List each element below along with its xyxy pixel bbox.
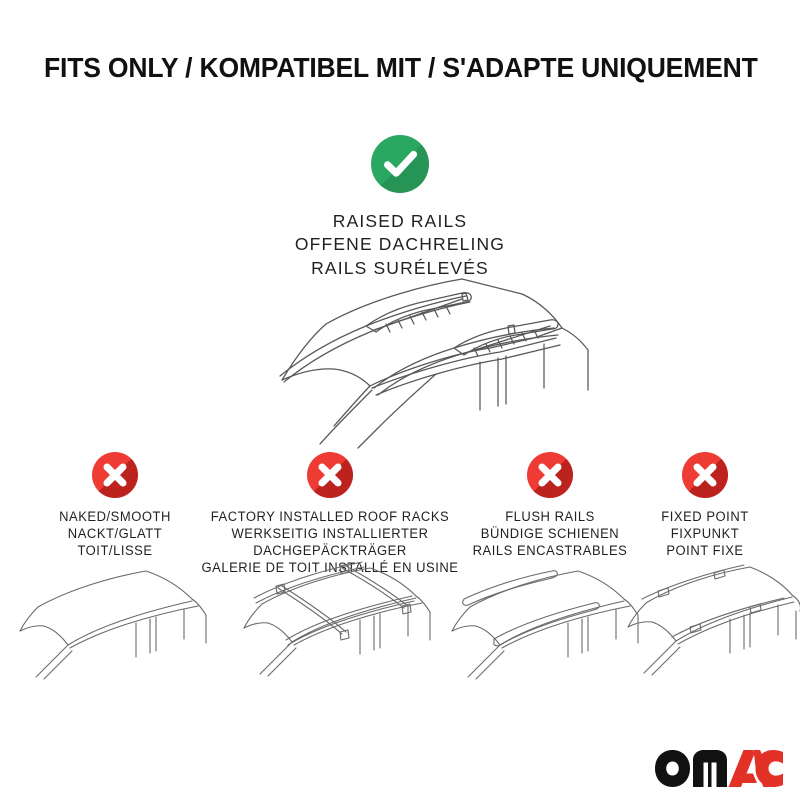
x-circle-icon [307,452,353,498]
check-circle-icon [371,135,429,193]
illustration-flush-rails [438,553,643,681]
illustration-fixed-points [618,553,800,681]
rejected-item-naked-smooth: NAKED/SMOOTH NACKT/GLATT TOIT/LISSE [25,452,205,559]
approved-label-de: OFFENE DACHRELING [0,233,800,256]
rejected-label-de: BÜNDIGE SCHIENEN [458,525,642,542]
rejected-labels: NAKED/SMOOTH NACKT/GLATT TOIT/LISSE [28,508,203,559]
rejected-label-de: NACKT/GLATT [28,525,203,542]
rejected-label-de: FIXPUNKT [627,525,782,542]
omac-logo [654,748,784,790]
rejected-item-flush-rails: FLUSH RAILS BÜNDIGE SCHIENEN RAILS ENCAS… [455,452,645,559]
rejected-labels: FIXED POINT FIXPUNKT POINT FIXE [627,508,782,559]
approved-label-en: RAISED RAILS [0,210,800,233]
rejected-label-de-1: WERKSEITIG INSTALLIERTER [199,525,461,542]
page-title: FITS ONLY / KOMPATIBEL MIT / S'ADAPTE UN… [44,52,748,84]
rejected-label-en: FACTORY INSTALLED ROOF RACKS [199,508,461,525]
x-circle-icon [92,452,138,498]
rejected-label-en: FLUSH RAILS [458,508,642,525]
rejected-item-fixed-point: FIXED POINT FIXPUNKT POINT FIXE [625,452,785,559]
rejected-labels: FLUSH RAILS BÜNDIGE SCHIENEN RAILS ENCAS… [458,508,642,559]
illustration-raised-rails [222,272,592,452]
compatibility-infographic: FITS ONLY / KOMPATIBEL MIT / S'ADAPTE UN… [0,0,800,800]
illustration-naked-roof [8,555,208,680]
x-circle-icon [527,452,573,498]
approved-fitment-block: RAISED RAILS OFFENE DACHRELING RAILS SUR… [0,135,800,280]
x-circle-icon [682,452,728,498]
rejected-label-en: FIXED POINT [627,508,782,525]
approved-labels: RAISED RAILS OFFENE DACHRELING RAILS SUR… [0,210,800,280]
illustration-factory-crossbars [228,548,440,680]
rejected-label-en: NAKED/SMOOTH [28,508,203,525]
